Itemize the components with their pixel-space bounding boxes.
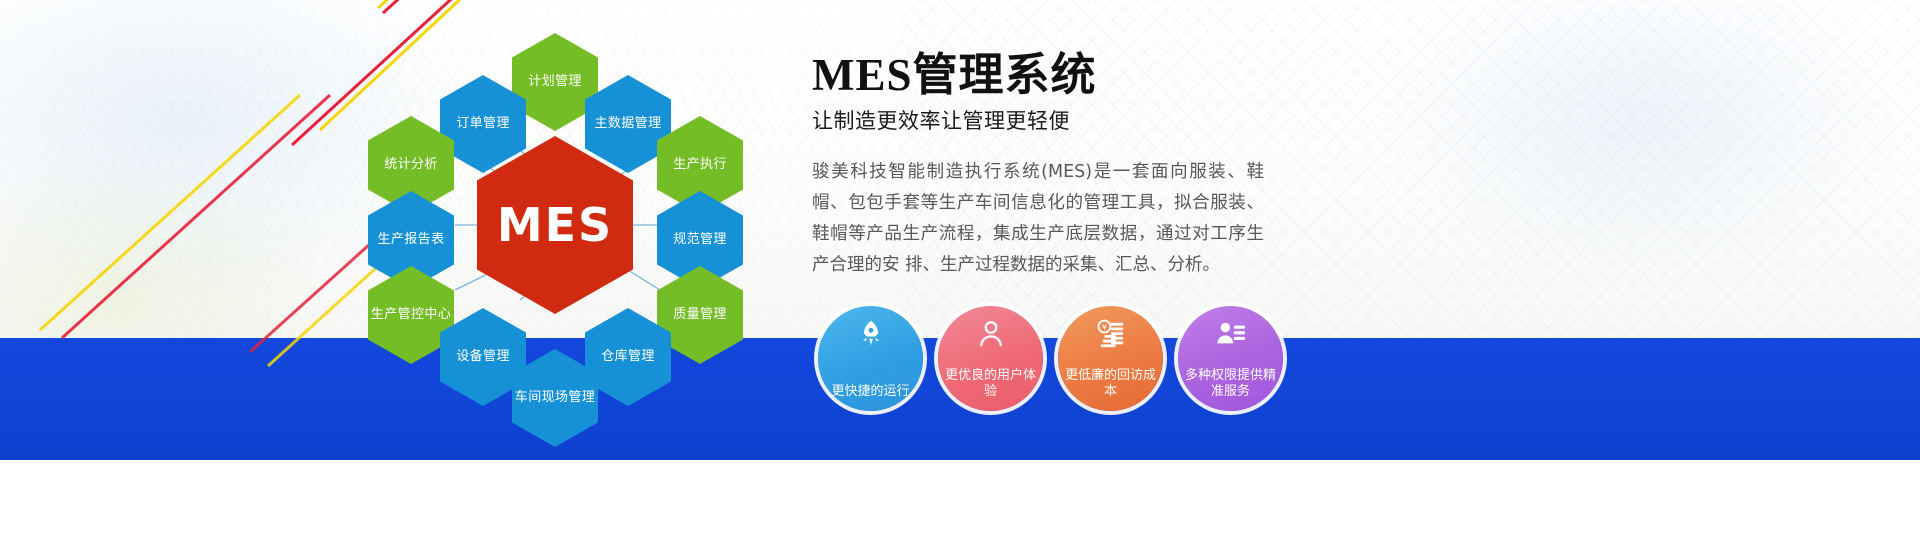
badge-label: 更优良的用户体验 xyxy=(938,368,1043,401)
page-title: MES管理系统 xyxy=(812,52,1812,99)
hex-node-label: 设备管理 xyxy=(456,349,510,364)
contact-list-icon xyxy=(1216,319,1246,349)
banner-text-column: MES管理系统 让制造更效率让管理更轻便 骏美科技智能制造执行系统(MES)是一… xyxy=(812,52,1812,281)
hex-node-label: 规范管理 xyxy=(673,232,727,247)
rocket-icon xyxy=(856,319,886,349)
hex-node-label: 质量管理 xyxy=(673,307,727,322)
mes-hexagon-diagram: MES计划管理订单管理主数据管理统计分析生产执行生产报告表规范管理生产管控中心质… xyxy=(0,0,820,460)
hex-node-label: MES xyxy=(497,198,613,252)
svg-text:¥: ¥ xyxy=(1102,323,1107,332)
badge-label: 多种权限提供精准服务 xyxy=(1178,368,1283,401)
feature-badge-list: 更快捷的运行 更优良的用户体验 xyxy=(818,306,1283,411)
feature-badge-faster[interactable]: 更快捷的运行 xyxy=(818,306,923,411)
hex-node-label: 主数据管理 xyxy=(594,116,661,131)
hex-node-label: 生产管控中心 xyxy=(371,307,451,322)
background-bottom-strip xyxy=(0,460,1920,550)
feature-badge-permissions[interactable]: 多种权限提供精准服务 xyxy=(1178,306,1283,411)
hex-node-label: 生产报告表 xyxy=(377,232,444,247)
hex-node-label: 订单管理 xyxy=(456,116,510,131)
coins-icon: ¥ xyxy=(1096,319,1126,349)
hex-node-label: 统计分析 xyxy=(384,157,438,172)
hex-node-label: 计划管理 xyxy=(528,74,582,89)
user-icon xyxy=(976,319,1006,349)
badge-label: 更快捷的运行 xyxy=(825,384,915,400)
page-subtitle: 让制造更效率让管理更轻便 xyxy=(812,105,1812,135)
badge-label: 更低廉的回访成本 xyxy=(1058,368,1163,401)
hex-node-label: 仓库管理 xyxy=(601,349,655,364)
hex-node-label: 车间现场管理 xyxy=(515,390,595,405)
hex-node-label: 生产执行 xyxy=(673,157,727,172)
feature-badge-cost[interactable]: ¥ 更低廉的回访成本 xyxy=(1058,306,1163,411)
banner-stage: MES计划管理订单管理主数据管理统计分析生产执行生产报告表规范管理生产管控中心质… xyxy=(0,0,1920,550)
description-paragraph: 骏美科技智能制造执行系统(MES)是一套面向服装、鞋帽、包包手套等生产车间信息化… xyxy=(812,157,1264,281)
feature-badge-experience[interactable]: 更优良的用户体验 xyxy=(938,306,1043,411)
